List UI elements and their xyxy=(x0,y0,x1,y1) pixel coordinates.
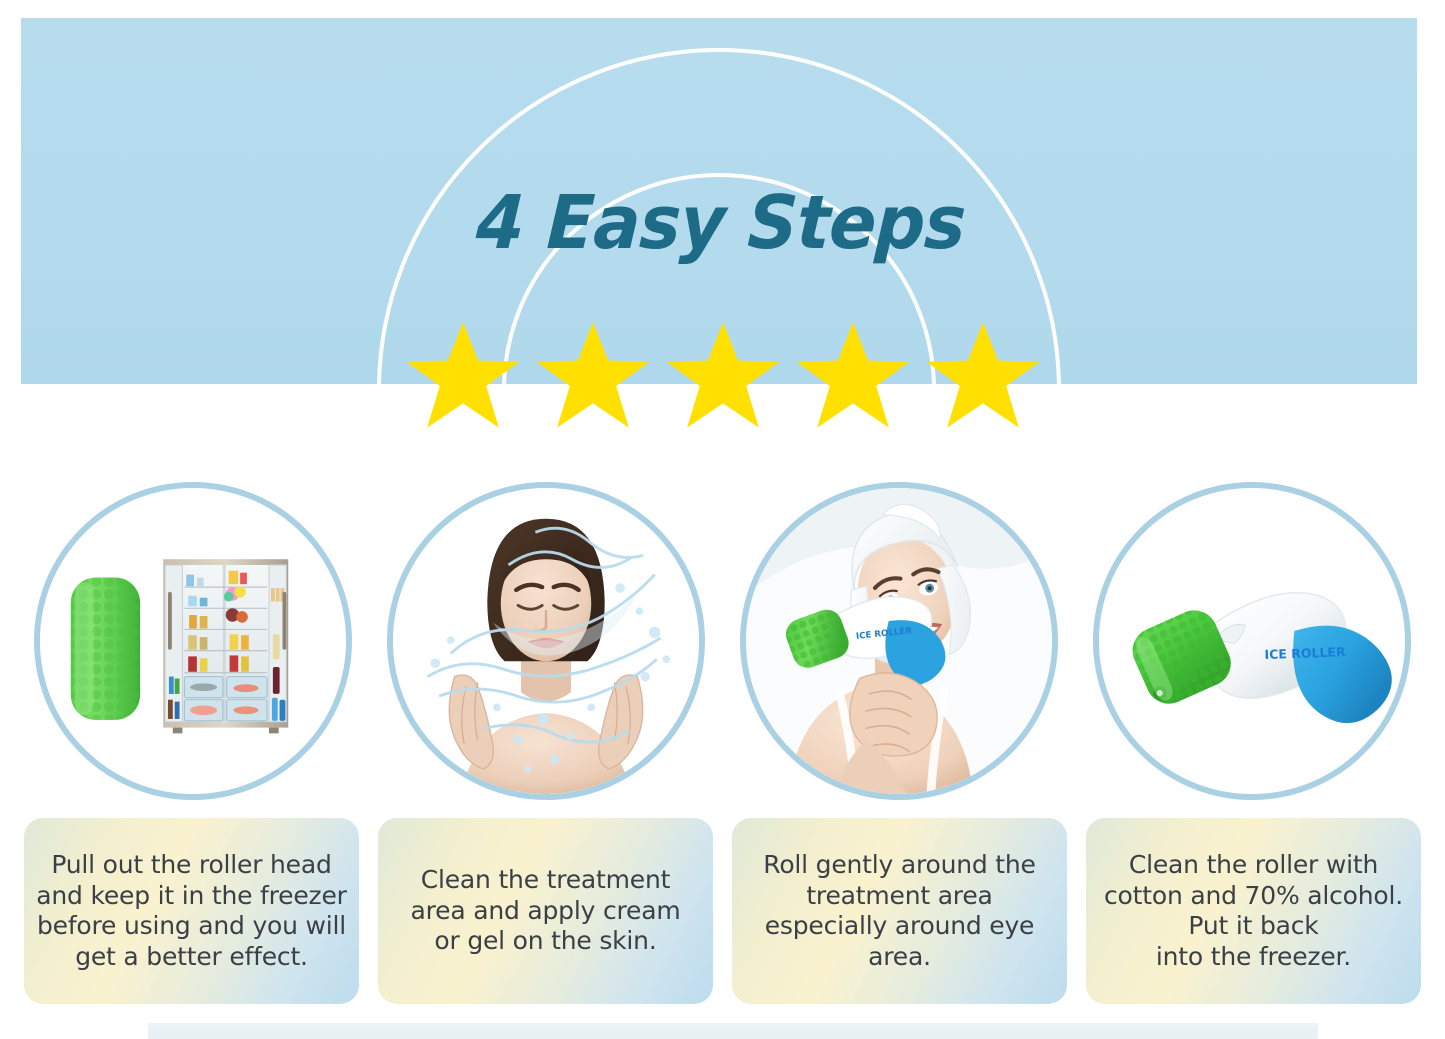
circle-frame: ICE ROLLER xyxy=(1093,482,1411,800)
star-icon xyxy=(784,320,922,430)
step-caption-4: Clean the roller with cotton and 70% alc… xyxy=(1104,850,1403,972)
caption-box-4: Clean the roller with cotton and 70% alc… xyxy=(1086,818,1421,1004)
caption-box-3: Roll gently around the treatment area es… xyxy=(732,818,1067,1004)
circle-frame: ICE ROLLER xyxy=(740,482,1058,800)
step-image-4: ICE ROLLER xyxy=(1089,478,1415,804)
step-image-2 xyxy=(383,478,709,804)
step-caption-3: Roll gently around the treatment area es… xyxy=(763,850,1035,972)
woman-washing-face-image xyxy=(393,488,699,794)
circle-frame xyxy=(387,482,705,800)
page-title: 4 Easy Steps xyxy=(475,186,967,260)
step-caption-1: Pull out the roller head and keep it in … xyxy=(36,850,346,972)
infographic-page: 4 Easy Steps xyxy=(0,0,1445,1039)
woman-using-ice-roller-image: ICE ROLLER xyxy=(746,488,1052,794)
step-image-1 xyxy=(30,478,356,804)
step-captions-row: Pull out the roller head and keep it in … xyxy=(0,818,1445,1006)
bottom-section-strip xyxy=(148,1023,1318,1039)
banner-title-wrap: 4 Easy Steps xyxy=(21,186,1417,260)
star-icon xyxy=(654,320,792,430)
caption-box-2: Clean the treatment area and apply cream… xyxy=(378,818,713,1004)
step-caption-2: Clean the treatment area and apply cream… xyxy=(411,865,681,957)
caption-box-1: Pull out the roller head and keep it in … xyxy=(24,818,359,1004)
star-icon xyxy=(524,320,662,430)
svg-text:ICE ROLLER: ICE ROLLER xyxy=(1264,644,1346,662)
circle-frame xyxy=(34,482,352,800)
star-icon xyxy=(394,320,532,430)
star-rating xyxy=(0,320,1445,430)
ice-roller-product-image: ICE ROLLER xyxy=(1099,488,1405,794)
step-images-row: ICE ROLLER xyxy=(0,478,1445,808)
roller-head-and-freezer-image xyxy=(40,488,346,794)
star-icon xyxy=(914,320,1052,430)
step-image-3: ICE ROLLER xyxy=(736,478,1062,804)
